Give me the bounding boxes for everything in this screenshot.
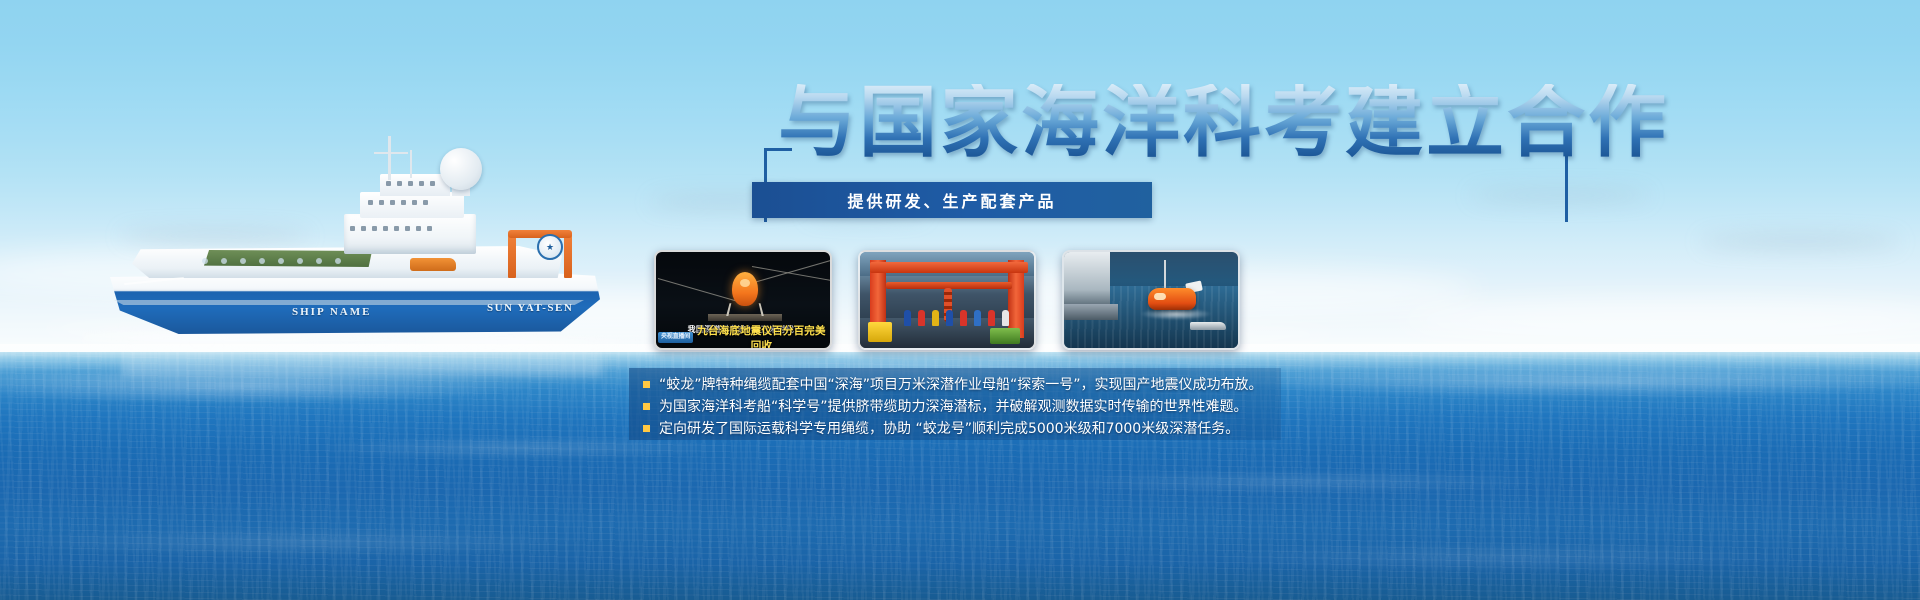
ship-bridge-window-row — [386, 181, 435, 186]
bullet-text: “蛟龙”牌特种绳缆配套中国“深海”项目万米深潜作业母船“探索一号”，实现国产地震… — [659, 374, 1263, 396]
thumbnail-submersible-recovery-at-sea[interactable] — [1062, 250, 1240, 350]
thumbnail-caption-bar: 央视直播间 九台海底地震仪百分百完美回收 — [656, 329, 830, 346]
mother-ship-side — [1064, 252, 1110, 306]
ship-window-row — [350, 226, 432, 231]
bullet-marker-icon — [643, 425, 650, 432]
feature-bullet-panel: “蛟龙”牌特种绳缆配套中国“深海”项目万米深潜作业母船“探索一号”，实现国产地震… — [629, 368, 1281, 440]
ship-lifeboat — [410, 258, 456, 271]
cloud-wisp — [1700, 235, 1900, 248]
broadcast-tag: 央视直播间 — [658, 332, 693, 342]
subtitle-text: 提供研发、生产配套产品 — [847, 188, 1056, 212]
page-title: 与国家海洋科考建立合作 — [778, 84, 1669, 162]
ship-reflection — [122, 336, 602, 376]
thumbnail-caption-bottom: 九台海底地震仪百分百完美回收 — [693, 323, 830, 351]
subtitle-banner: 提供研发、生产配套产品 — [752, 182, 1152, 218]
seismometer-pod-icon — [732, 272, 758, 306]
submersible-icon — [1148, 288, 1196, 310]
mother-ship-lower-hull — [1064, 304, 1118, 320]
ship-name-port: SHIP NAME — [292, 306, 371, 318]
research-vessel-illustration: ★ SHIP NAME SUN YAT-SEN — [92, 130, 622, 370]
thumbnail-research-vessel-gantry-crane[interactable] — [858, 250, 1036, 350]
cloud — [1400, 300, 1920, 342]
bullet-item: “蛟龙”牌特种绳缆配套中国“深海”项目万米深潜作业母船“探索一号”，实现国产地震… — [643, 374, 1271, 396]
hero-banner: ★ SHIP NAME SUN YAT-SEN 与国家海洋科考建立合作 提供研发… — [0, 0, 1920, 600]
ship-radome — [440, 148, 482, 190]
ship-mast-secondary — [410, 150, 412, 178]
bullet-marker-icon — [643, 403, 650, 410]
bullet-text: 为国家海洋科考船“科学号”提供脐带缆助力深海潜标，并破解观测数据实时传输的世界性… — [659, 396, 1248, 418]
bullet-item: 为国家海洋科考船“科学号”提供脐带缆助力深海潜标，并破解观测数据实时传输的世界性… — [643, 396, 1271, 418]
gantry-top-beam — [870, 262, 1028, 273]
lifting-hook-line — [1164, 260, 1166, 290]
bullet-marker-icon — [643, 381, 650, 388]
ship-funnel-badge: ★ — [537, 234, 563, 260]
deck-equipment-green — [990, 328, 1020, 344]
ship-name-stern: SUN YAT-SEN — [487, 302, 573, 314]
thumbnail-gallery: 我国深潜科考进入 “万米时代” 央视直播间 九台海底地震仪百分百完美回收 — [654, 250, 1240, 350]
bullet-item: 定向研发了国际运载科学专用绳缆，协助 “蛟龙号”顺利完成5000米级和7000米… — [643, 418, 1271, 440]
support-boat — [1190, 322, 1226, 330]
ship-window-row — [368, 200, 428, 205]
ship-yardarm — [374, 152, 408, 154]
ship-mast — [388, 136, 391, 180]
ship-superstructure-lower — [344, 214, 476, 254]
deck-equipment-yellow — [868, 322, 892, 342]
ship-porthole-row — [202, 258, 341, 264]
crew-group — [904, 310, 1009, 326]
thumbnail-deep-sea-submersible-news[interactable]: 我国深潜科考进入 “万米时代” 央视直播间 九台海底地震仪百分百完美回收 — [654, 250, 832, 350]
bullet-text: 定向研发了国际运载科学专用绳缆，协助 “蛟龙号”顺利完成5000米级和7000米… — [659, 418, 1239, 440]
